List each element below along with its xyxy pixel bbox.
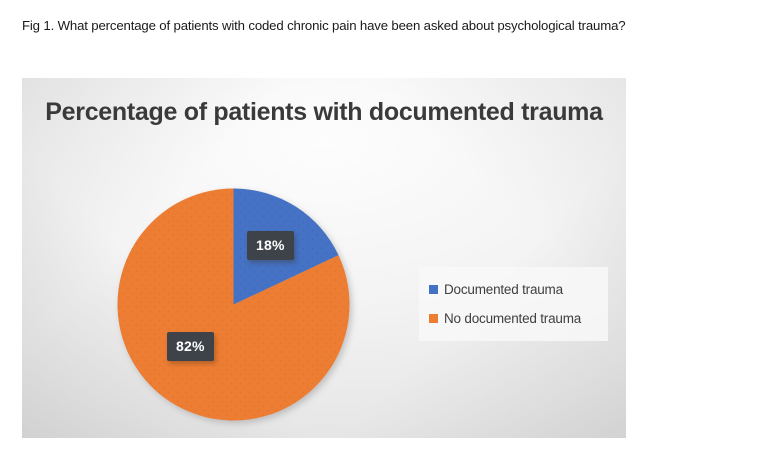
data-label-no-documented-trauma: 82% xyxy=(167,332,214,361)
data-label-documented-trauma: 18% xyxy=(247,231,294,260)
legend-item-documented-trauma[interactable]: Documented trauma xyxy=(429,277,600,301)
legend-item-label: No documented trauma xyxy=(444,311,581,326)
chart-panel: Percentage of patients with documented t… xyxy=(22,78,626,438)
legend-item-no-documented-trauma[interactable]: No documented trauma xyxy=(429,306,600,330)
legend-item-label: Documented trauma xyxy=(444,282,563,297)
pie-texture-overlay xyxy=(118,189,350,421)
chart-title: Percentage of patients with documented t… xyxy=(22,96,626,129)
legend-swatch-icon xyxy=(429,314,438,323)
pie-svg xyxy=(117,188,350,421)
figure-caption: Fig 1. What percentage of patients with … xyxy=(22,16,746,36)
chart-legend: Documented trauma No documented trauma xyxy=(419,267,608,341)
legend-swatch-icon xyxy=(429,285,438,294)
pie-chart xyxy=(117,188,350,421)
figure-page: Fig 1. What percentage of patients with … xyxy=(0,0,768,456)
